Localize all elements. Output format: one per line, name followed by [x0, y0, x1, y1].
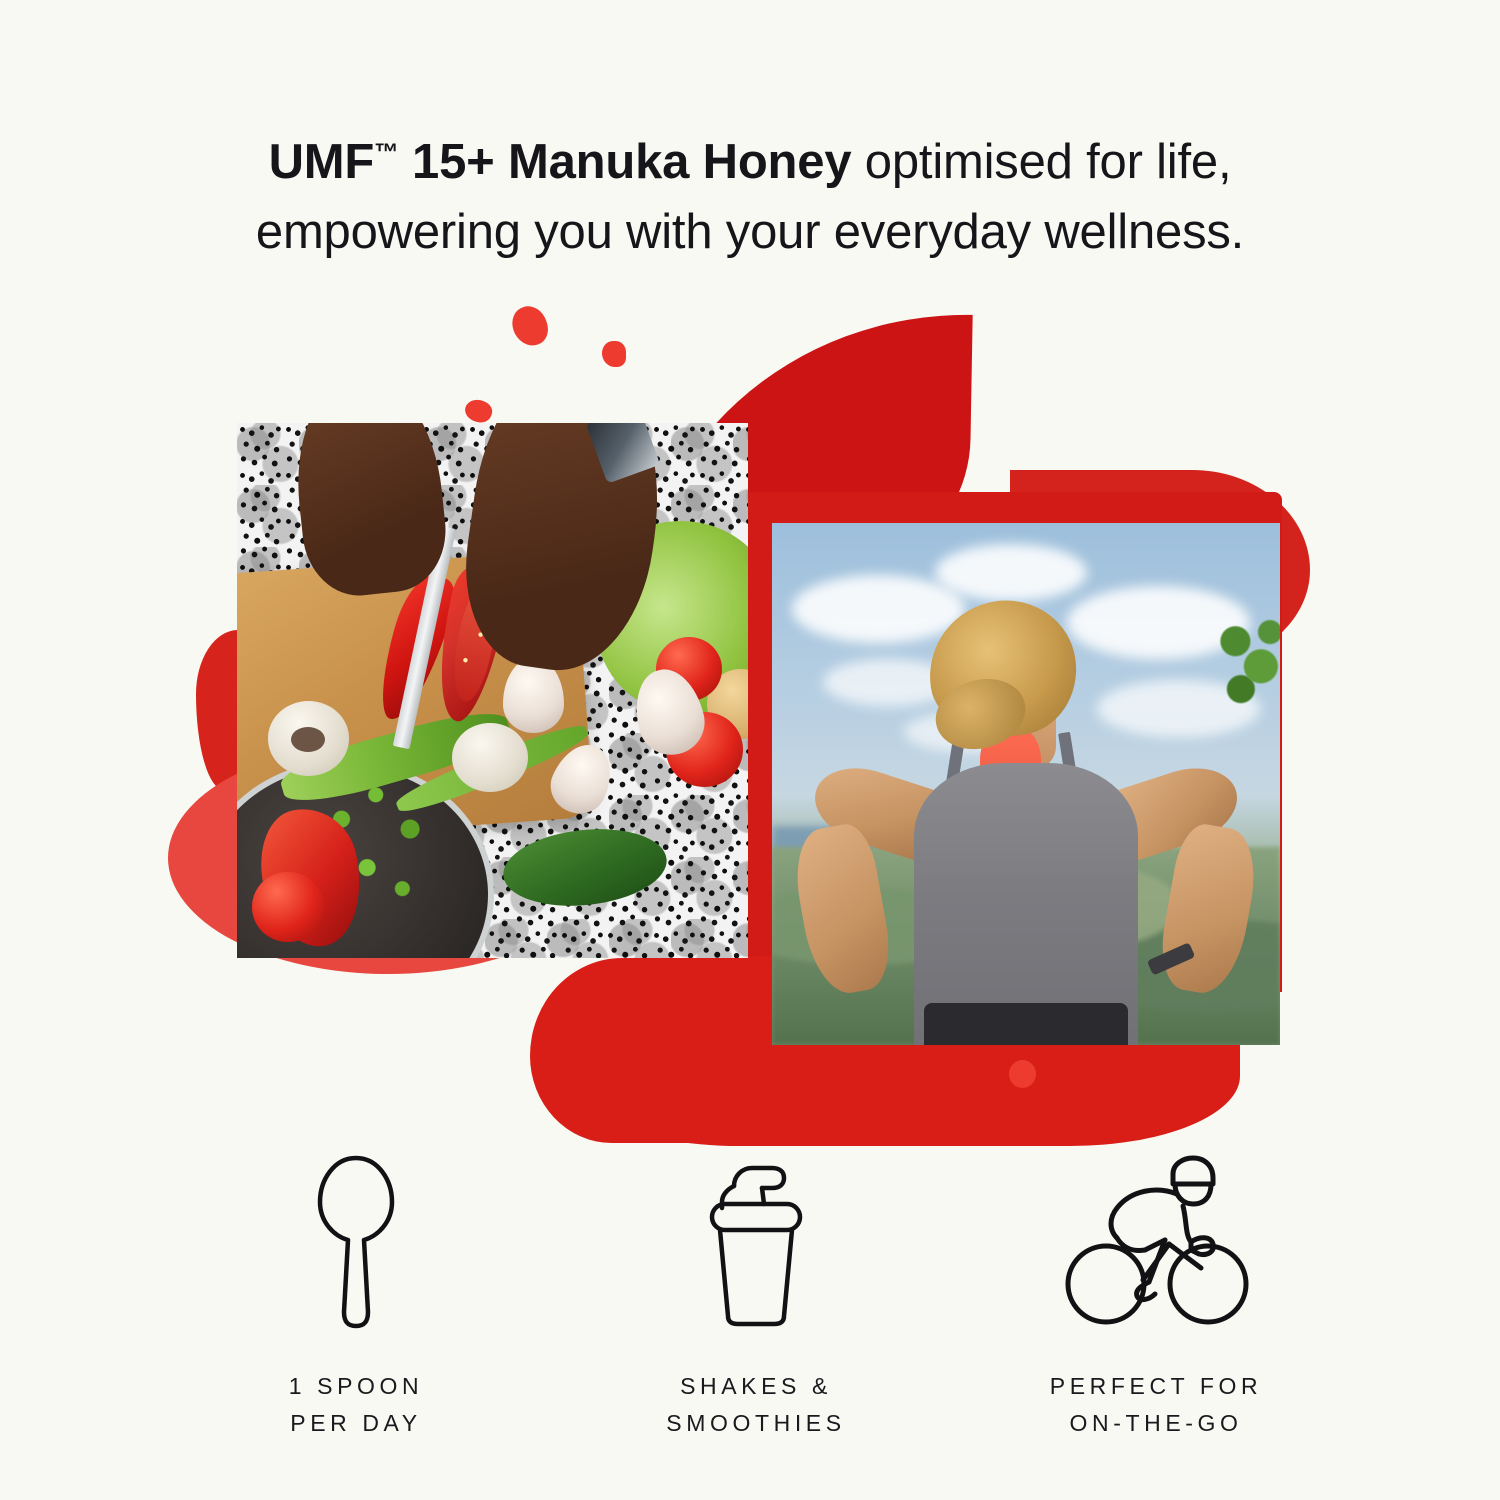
headline-tail: optimised for life, [851, 135, 1231, 189]
spoon-icon [296, 1152, 416, 1332]
shaker-bottle-icon [686, 1152, 826, 1332]
benefit-label-spoon-line2: PER DAY [289, 1405, 423, 1442]
tree-foliage [1199, 607, 1280, 722]
benefit-label-shaker-line2: SMOOTHIES [666, 1405, 845, 1442]
cloud-1 [792, 575, 965, 643]
hiker-overlook-photo [772, 523, 1280, 1045]
headline-line-1: UMF™ 15+ Manuka Honey optimised for life… [120, 128, 1380, 198]
red-dot-icon-4 [1009, 1060, 1036, 1088]
headline-line-2: empowering you with your everyday wellne… [120, 198, 1380, 268]
benefit-label-shaker: SHAKES & SMOOTHIES [666, 1368, 845, 1443]
mushroom-2 [452, 723, 529, 793]
headline-product: 15+ Manuka Honey [399, 135, 852, 189]
cloud-2 [935, 544, 1087, 601]
cyclist-icon [1061, 1152, 1251, 1332]
benefit-item-cyclist: PERFECT FOR ON-THE-GO [986, 1152, 1326, 1443]
benefit-label-cyclist-line1: PERFECT FOR [1050, 1368, 1262, 1405]
benefit-label-spoon: 1 SPOON PER DAY [289, 1368, 423, 1443]
red-dot-icon-3 [462, 396, 495, 426]
red-dot-icon-2 [602, 341, 626, 367]
benefit-label-shaker-line1: SHAKES & [666, 1368, 845, 1405]
benefit-label-cyclist-line2: ON-THE-GO [1050, 1405, 1262, 1442]
benefit-label-cyclist: PERFECT FOR ON-THE-GO [1050, 1368, 1262, 1443]
headline-brand: UMF [269, 135, 375, 189]
mushroom-1 [268, 701, 350, 776]
vegetable-prep-photo [237, 423, 748, 958]
red-dot-icon-1 [508, 302, 553, 351]
black-shorts [924, 1003, 1127, 1045]
benefits-row: 1 SPOON PER DAY SHAKES & S [186, 1152, 1326, 1443]
benefit-item-spoon: 1 SPOON PER DAY [186, 1152, 526, 1443]
page-title: UMF™ 15+ Manuka Honey optimised for life… [0, 128, 1500, 267]
benefit-item-shaker: SHAKES & SMOOTHIES [586, 1152, 926, 1443]
trademark-symbol: ™ [374, 140, 399, 167]
product-feature-panel: UMF™ 15+ Manuka Honey optimised for life… [0, 0, 1500, 1500]
tomato-3 [252, 872, 324, 942]
benefit-label-spoon-line1: 1 SPOON [289, 1368, 423, 1405]
